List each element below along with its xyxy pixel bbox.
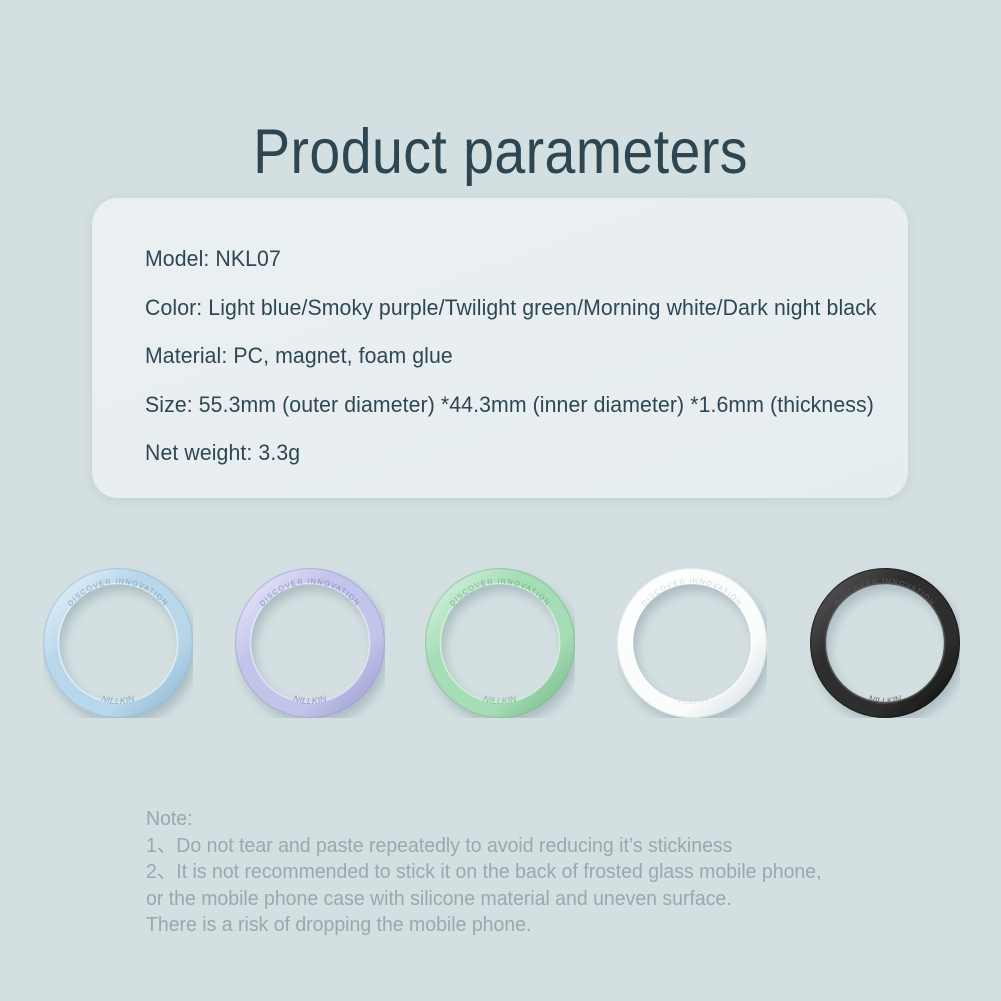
note-item-2c: There is a risk of dropping the mobile p… [146, 912, 887, 939]
product-ring-3[interactable]: DISCOVER INNOVATIONNILLKIN [416, 556, 584, 756]
ring-brand-mark: NILLKIN [482, 693, 518, 706]
product-ring-4[interactable]: DISCOVER INNOVATIONNILLKIN [608, 556, 776, 756]
spec-line-model: Model: NKL07 [145, 235, 841, 284]
product-ring-5[interactable]: DISCOVER INNOVATIONNILLKIN [801, 556, 969, 756]
ring-body: DISCOVER INNOVATIONNILLKIN [810, 568, 960, 718]
product-ring-gallery: DISCOVER INNOVATIONNILLKINDISCOVER INNOV… [0, 556, 1001, 756]
ring-brand-mark: NILLKIN [867, 693, 903, 706]
page-title: Product parameters [60, 114, 941, 190]
spec-line-size: Size: 55.3mm (outer diameter) *44.3mm (i… [145, 381, 841, 430]
ring-body: DISCOVER INNOVATIONNILLKIN [235, 568, 385, 718]
product-ring-1[interactable]: DISCOVER INNOVATIONNILLKIN [34, 556, 202, 756]
ring-brand-mark: NILLKIN [674, 693, 710, 706]
spec-line-material: Material: PC, magnet, foam glue [145, 332, 841, 381]
note-item-2b: or the mobile phone case with silicone m… [146, 886, 887, 913]
ring-body: DISCOVER INNOVATIONNILLKIN [43, 568, 193, 718]
spec-line-net-weight: Net weight: 3.3g [145, 429, 841, 478]
ring-brand-mark: NILLKIN [292, 693, 328, 706]
ring-body: DISCOVER INNOVATIONNILLKIN [425, 568, 575, 718]
ring-body: DISCOVER INNOVATIONNILLKIN [617, 568, 767, 718]
note-item-2: 2、It is not recommended to stick it on t… [146, 859, 887, 886]
ring-brand-mark: NILLKIN [100, 693, 136, 706]
product-ring-2[interactable]: DISCOVER INNOVATIONNILLKIN [226, 556, 394, 756]
note-block: Note: 1、Do not tear and paste repeatedly… [146, 806, 887, 939]
note-title: Note: [146, 806, 887, 833]
spec-list: Model: NKL07 Color: Light blue/Smoky pur… [145, 235, 882, 478]
spec-card: Model: NKL07 Color: Light blue/Smoky pur… [92, 198, 908, 498]
spec-line-color: Color: Light blue/Smoky purple/Twilight … [145, 284, 841, 333]
note-item-1: 1、Do not tear and paste repeatedly to av… [146, 833, 887, 860]
